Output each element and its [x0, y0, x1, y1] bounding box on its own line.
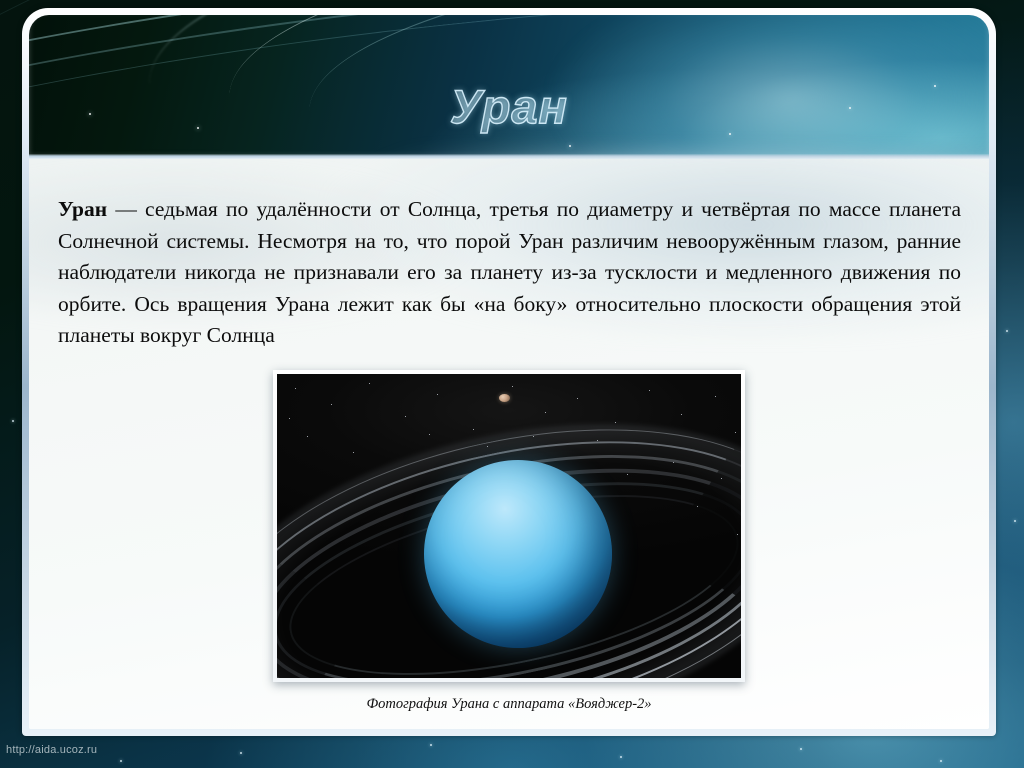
presentation-slide: Уран Уран — седьмая по удалённости от Со…: [0, 0, 1024, 768]
slide-content: Уран — седьмая по удалённости от Солнца,…: [29, 159, 989, 729]
body-paragraph-text: — седьмая по удалённости от Солнца, трет…: [58, 197, 961, 347]
body-paragraph: Уран — седьмая по удалённости от Солнца,…: [29, 159, 989, 352]
uranus-photo-frame: [273, 370, 745, 682]
slide-frame: Уран Уран — седьмая по удалённости от Со…: [22, 8, 996, 736]
uranus-planet: [424, 460, 612, 648]
uranus-moon: [499, 394, 510, 402]
image-caption: Фотография Урана с аппарата «Вояджер-2»: [29, 696, 989, 713]
slide-header-banner: Уран: [29, 15, 989, 159]
source-watermark[interactable]: http://aida.ucoz.ru: [6, 744, 97, 756]
uranus-photo: [277, 374, 741, 678]
slide-frame-inner: Уран Уран — седьмая по удалённости от Со…: [29, 15, 989, 729]
body-lead-term: Уран: [58, 197, 107, 221]
page-title: Уран: [29, 83, 989, 130]
